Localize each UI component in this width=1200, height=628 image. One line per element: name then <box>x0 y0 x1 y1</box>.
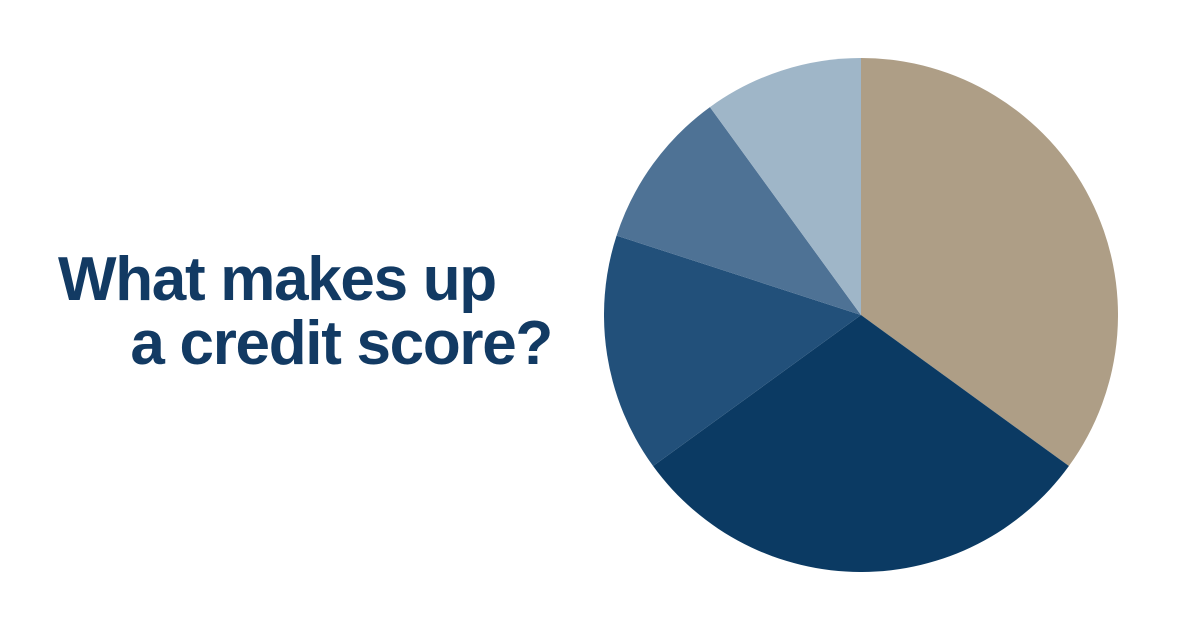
infographic-canvas: What makes up a credit score? 35% Paymen… <box>0 0 1200 628</box>
page-title-line-1: What makes up <box>58 248 570 312</box>
pie-chart: 35% Payment history 30% Amounts owed 15%… <box>604 58 1118 572</box>
title-block: What makes up a credit score? <box>40 248 570 376</box>
page-title: What makes up a credit score? <box>40 248 570 376</box>
pie-slice-group <box>604 58 1118 572</box>
page-title-line-2: a credit score? <box>40 312 552 376</box>
pie-chart-svg <box>604 58 1118 572</box>
